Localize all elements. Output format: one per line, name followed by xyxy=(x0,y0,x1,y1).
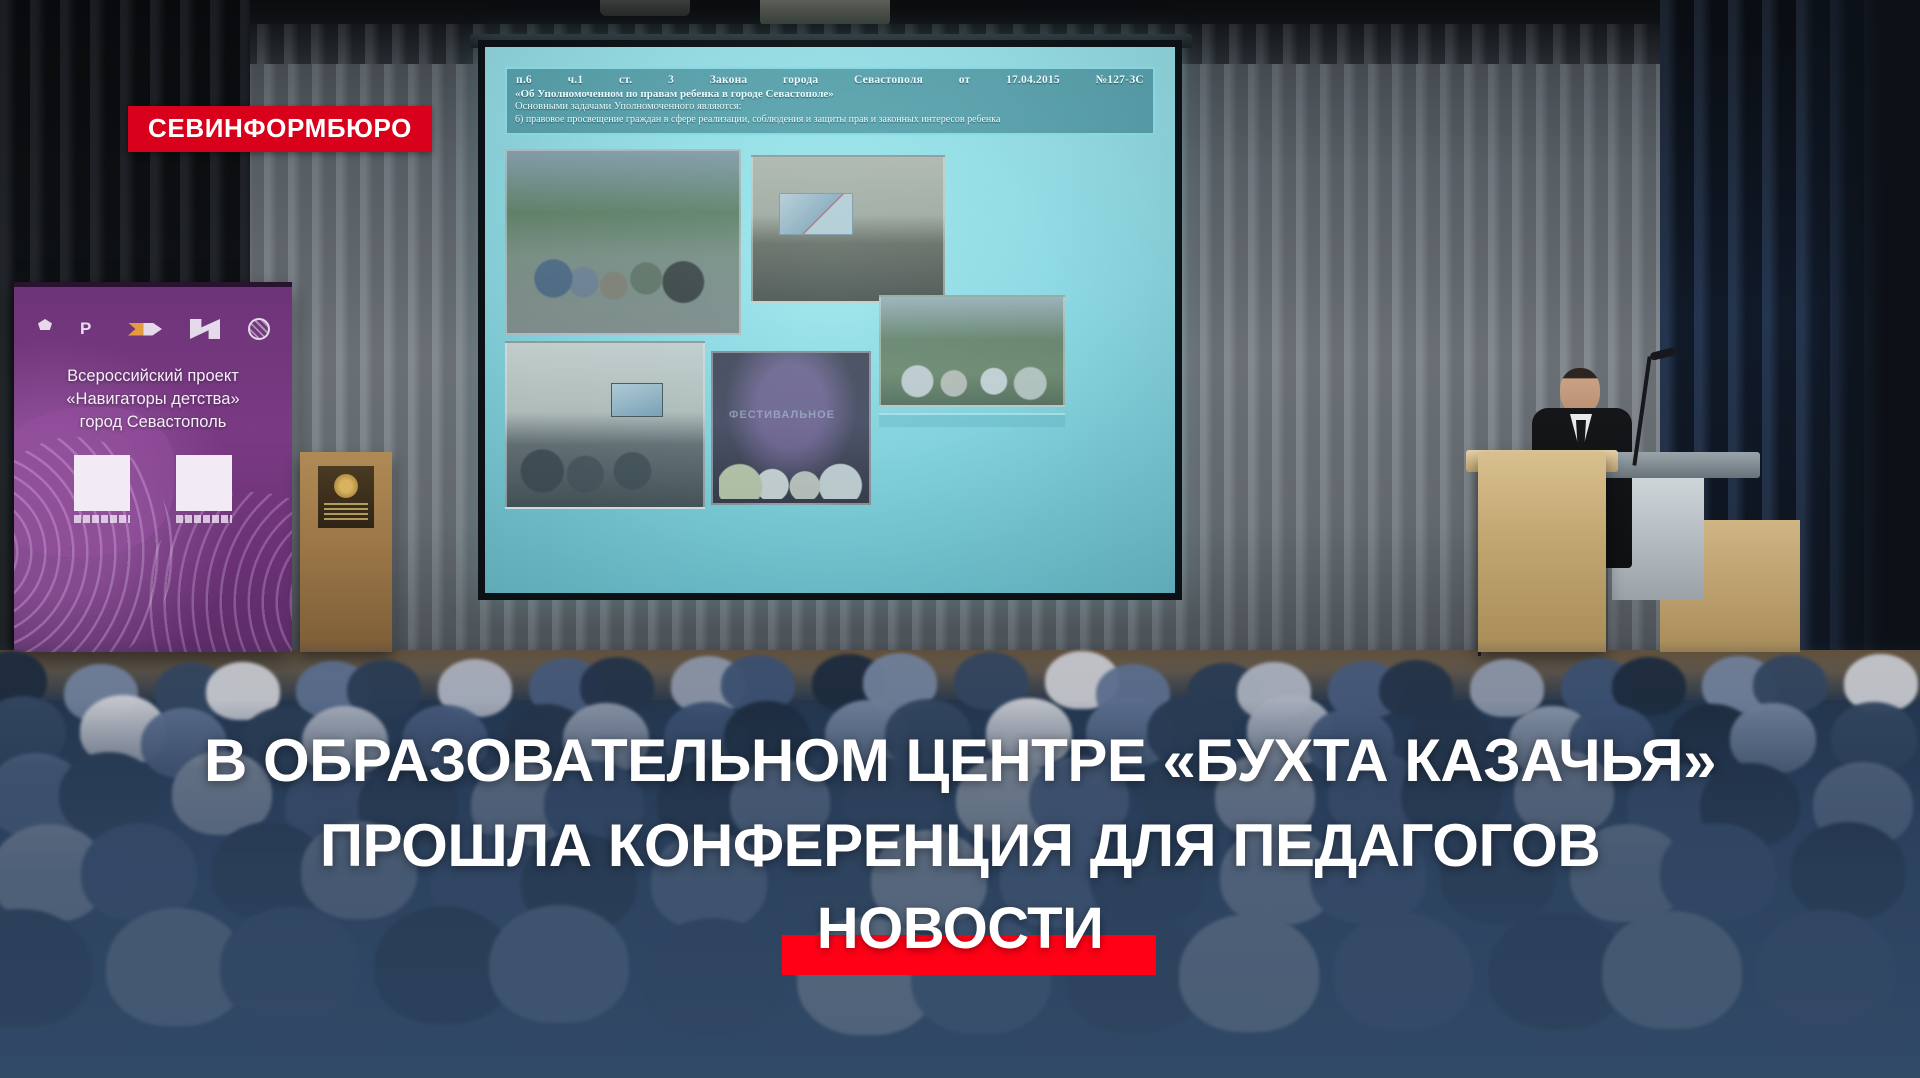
slide-ref-token: ст. xyxy=(618,74,633,86)
slide-ref-token: Севастополя xyxy=(853,74,924,86)
ceiling-light-fixture-icon xyxy=(760,0,890,26)
slide-photo xyxy=(751,155,945,303)
award-plaque-text xyxy=(324,502,368,520)
slide-photo-caption: ФЕСТИВАЛЬНОЕ xyxy=(729,409,857,425)
slide-photo: ФЕСТИВАЛЬНОЕ xyxy=(711,351,871,505)
banner-title-line: Всероссийский проект xyxy=(24,365,282,388)
slide-bottom-strip xyxy=(879,413,1065,427)
banner-title-line: «Навигаторы детства» xyxy=(24,388,282,411)
channel-brand-badge: СЕВИНФОРМБЮРО xyxy=(128,106,432,152)
ceiling-light-fixture-secondary-icon xyxy=(600,0,690,16)
broadcast-frame: п.6 ч.1 ст. 3 Закона города Севастополя … xyxy=(0,0,1920,1078)
lectern-surface xyxy=(1600,452,1760,478)
banner-title: Всероссийский проект «Навигаторы детства… xyxy=(24,365,282,433)
banner-title-line: город Севастополь xyxy=(24,411,282,434)
qr-code-icon xyxy=(176,455,232,511)
kicker-container: НОВОСТИ xyxy=(0,898,1920,964)
rollup-banner: Р Всероссийский проект «Навигаторы детст… xyxy=(14,282,292,652)
slide-clause-text: 6) правовое просвещение граждан в сфере … xyxy=(515,114,1145,127)
slide-law-reference: п.6 ч.1 ст. 3 Закона города Севастополя … xyxy=(515,74,1145,86)
rosdetcentr-icon: Р xyxy=(80,319,100,339)
slide-intro-line: Основными задачами Уполномоченного являю… xyxy=(515,101,1145,112)
slide-ref-token: 17.04.2015 xyxy=(1005,74,1061,86)
slide-photo xyxy=(879,295,1065,407)
slide-photo-collage: ФЕСТИВАЛЬНОЕ xyxy=(499,145,1161,517)
slide-photo-inner-tv xyxy=(611,383,663,417)
headline-line-1: В ОБРАЗОВАТЕЛЬНОМ ЦЕНТРЕ «БУХТА КАЗАЧЬЯ» xyxy=(0,718,1920,803)
eagle-emblem-icon xyxy=(38,319,52,339)
slide-ref-token: города xyxy=(782,74,819,86)
slide-photo xyxy=(505,149,741,335)
navigator-n-icon xyxy=(190,319,220,339)
award-pedestal xyxy=(300,452,392,652)
slide-law-title: «Об Уполномоченном по правам ребенка в г… xyxy=(515,88,1145,100)
slide-ref-token: 3 xyxy=(667,74,675,86)
slide-ref-token: №127-ЗС xyxy=(1095,74,1145,86)
slide-ref-token: Закона xyxy=(709,74,749,86)
arrow-logo-icon xyxy=(128,323,162,336)
banner-logo-row: Р xyxy=(38,315,270,343)
news-headline: В ОБРАЗОВАТЕЛЬНОМ ЦЕНТРЕ «БУХТА КАЗАЧЬЯ»… xyxy=(0,718,1920,888)
slide-photo xyxy=(505,341,705,509)
award-seal-icon xyxy=(334,474,358,498)
slide-ref-token: п.6 xyxy=(515,74,533,86)
news-kicker: НОВОСТИ xyxy=(807,898,1114,964)
slide-photo-inner-screen xyxy=(779,193,853,235)
kicker-label: НОВОСТИ xyxy=(817,896,1104,961)
banner-qr-row xyxy=(74,455,232,511)
projection-screen-frame: п.6 ч.1 ст. 3 Закона города Севастополя … xyxy=(478,40,1182,600)
slide-ref-token: от xyxy=(958,74,972,86)
wooden-podium xyxy=(1478,452,1606,652)
qr-code-icon xyxy=(74,455,130,511)
slide-ref-token: ч.1 xyxy=(567,74,585,86)
slide-photo-crowd xyxy=(719,437,867,499)
projection-screen: п.6 ч.1 ст. 3 Закона города Севастополя … xyxy=(485,47,1175,593)
seal-circle-icon xyxy=(248,318,270,340)
headline-line-2: ПРОШЛА КОНФЕРЕНЦИЯ ДЛЯ ПЕДАГОГОВ xyxy=(0,803,1920,888)
slide-text-block: п.6 ч.1 ст. 3 Закона города Севастополя … xyxy=(505,67,1155,135)
award-plaque xyxy=(318,466,374,528)
stage-wing-curtain-right-outer xyxy=(1810,0,1920,700)
